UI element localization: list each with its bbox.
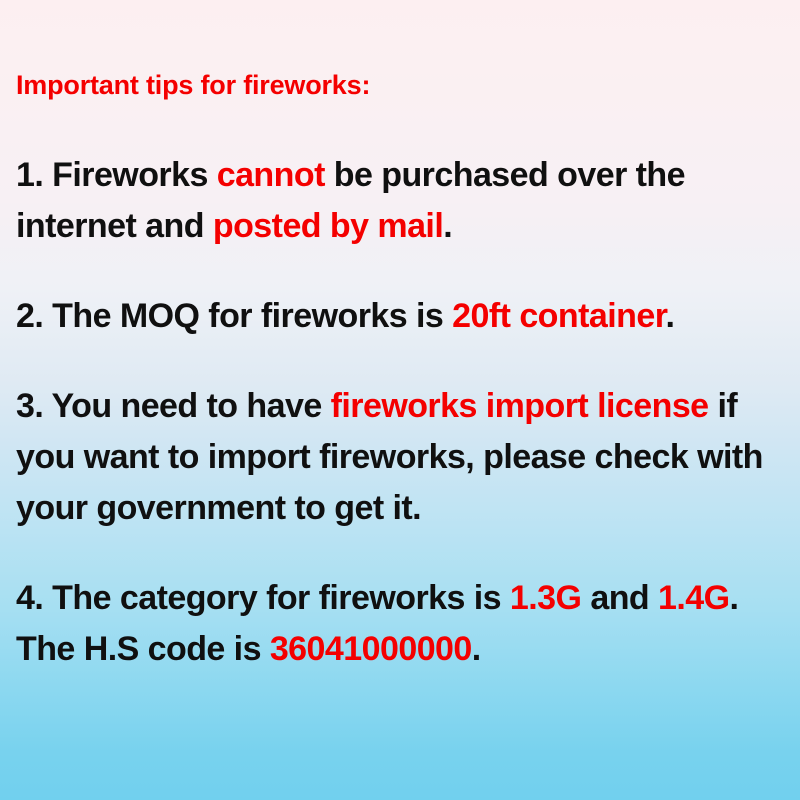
list-item: 4. The category for fireworks is 1.3G an… — [16, 573, 786, 675]
page-title: Important tips for fireworks: — [16, 68, 370, 102]
list-item: 2. The MOQ for fireworks is 20ft contain… — [16, 291, 786, 342]
highlighted-text: cannot — [217, 156, 325, 194]
list-item: 1. Fireworks cannot be purchased over th… — [16, 150, 786, 252]
body-text: . — [666, 297, 675, 335]
highlighted-text: 1.3G — [510, 579, 582, 617]
body-text: 4. The category for fireworks is — [16, 579, 510, 617]
body-text: 3. You need to have — [16, 387, 331, 425]
highlighted-text: fireworks import license — [331, 387, 709, 425]
highlighted-text: 36041000000 — [270, 630, 472, 668]
tips-list: 1. Fireworks cannot be purchased over th… — [16, 150, 786, 675]
highlighted-text: 20ft container — [452, 297, 665, 335]
body-text: and — [581, 579, 658, 617]
body-text: 2. The MOQ for fireworks is — [16, 297, 452, 335]
highlighted-text: posted by mail — [213, 207, 443, 245]
body-text: . — [443, 207, 452, 245]
highlighted-text: 1.4G — [658, 579, 730, 617]
body-text: 1. Fireworks — [16, 156, 217, 194]
list-item: 3. You need to have fireworks import lic… — [16, 381, 786, 534]
body-text: . — [472, 630, 481, 668]
fireworks-tips-infographic: Important tips for fireworks: 1. Firewor… — [0, 0, 800, 800]
